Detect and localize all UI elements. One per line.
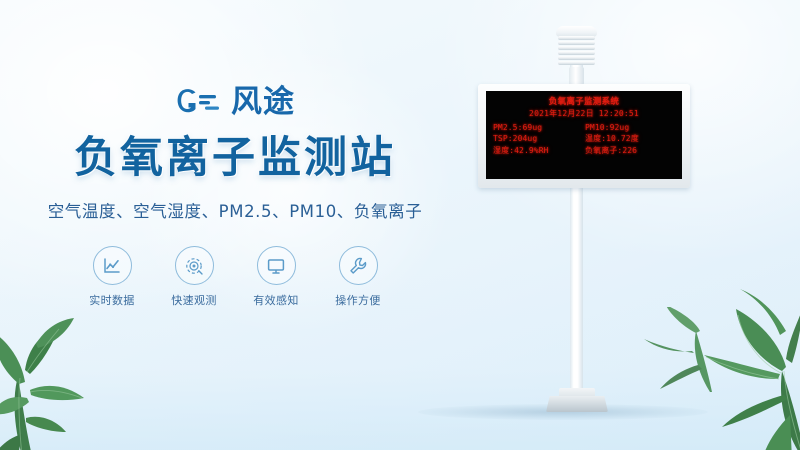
feature-item-easy-operation: 操作方便 [330,246,386,308]
led-reading-anion: 负氧离子:226 [585,146,675,157]
leaf-plant-icon [0,306,142,450]
led-reading-humidity: 湿度:42.9%RH [493,146,585,157]
feature-item-realtime-data: 实时数据 [84,246,140,308]
feature-list: 实时数据 快速观测 [0,246,470,308]
feature-icon-circle [175,246,214,285]
feature-icon-circle [93,246,132,285]
led-display-frame: 负氧离子监测系统 2021年12月22日 12:20:51 PM2.5:69ug… [478,84,690,188]
led-reading-pm10: PM10:92ug [585,123,675,134]
brand-logo: 风途 [0,80,470,124]
tropical-leaf-icon [666,275,800,450]
wrench-icon [348,256,368,276]
led-reading-tsp: TSP:204ug [493,134,585,145]
feature-label: 快速观测 [166,292,222,308]
tropical-leaf-secondary-icon [642,307,712,392]
radiation-shield-sensor-icon [551,26,602,76]
monitor-icon [266,256,286,276]
feature-icon-circle [257,246,296,285]
page-subtitle: 空气温度、空气湿度、PM2.5、PM10、负氧离子 [0,198,470,222]
led-title: 负氧离子监测系统 [493,97,675,108]
led-display-screen: 负氧离子监测系统 2021年12月22日 12:20:51 PM2.5:69ug… [486,91,682,179]
sensor-stem [569,67,584,85]
radar-observation-icon [184,256,204,276]
feature-label: 有效感知 [248,292,304,308]
feature-label: 实时数据 [84,292,140,308]
led-readings: PM2.5:69ug PM10:92ug TSP:204ug 温度:10.72度… [493,123,675,157]
hero-text-column: 风途 负氧离子监测站 空气温度、空气湿度、PM2.5、PM10、负氧离子 实 [0,80,470,308]
pole-base-plate [546,396,608,412]
gf-speed-logo-icon [175,86,221,118]
line-chart-icon [102,256,122,276]
led-reading-pm25: PM2.5:69ug [493,123,585,134]
feature-item-fast-observation: 快速观测 [166,246,222,308]
feature-icon-circle [339,246,378,285]
feature-item-effective-sensing: 有效感知 [248,246,304,308]
led-reading-temp: 温度:10.72度 [585,134,675,145]
page-title: 负氧离子监测站 [0,136,470,181]
sensor-louver-plates [558,36,595,68]
led-datetime: 2021年12月22日 12:20:51 [493,109,675,120]
brand-name: 风途 [231,87,295,118]
promo-banner: 风途 负氧离子监测站 空气温度、空气湿度、PM2.5、PM10、负氧离子 实 [0,0,800,450]
feature-label: 操作方便 [330,292,386,308]
